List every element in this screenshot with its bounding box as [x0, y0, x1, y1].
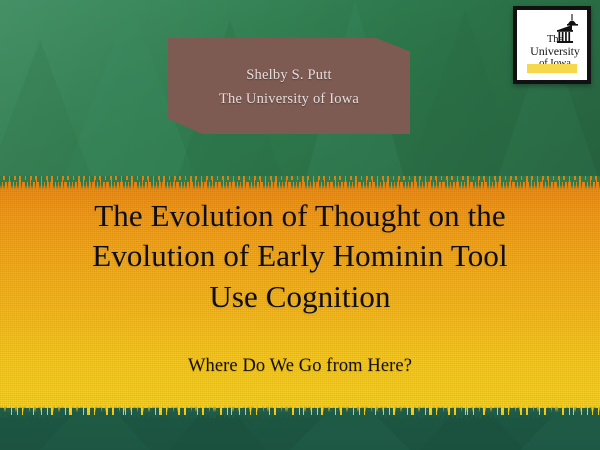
- author-box: Shelby S. Putt The University of Iowa: [168, 38, 410, 134]
- torn-edge-top: [0, 176, 600, 182]
- title-slide: Shelby S. Putt The University of Iowa Th…: [0, 0, 600, 450]
- slide-title: The Evolution of Thought on the Evolutio…: [20, 196, 580, 317]
- torn-edge-bottom: [0, 408, 600, 415]
- logo-line-university: University: [521, 45, 589, 58]
- title-line: The Evolution of Thought on the: [20, 196, 580, 236]
- author-affiliation: The University of Iowa: [168, 88, 410, 112]
- university-of-iowa-logo: The University of Iowa: [513, 6, 591, 84]
- title-line: Use Cognition: [20, 277, 580, 317]
- author-name: Shelby S. Putt: [168, 64, 410, 88]
- author-text-group: Shelby S. Putt The University of Iowa: [168, 64, 410, 112]
- title-line: Evolution of Early Hominin Tool: [20, 236, 580, 276]
- logo-gold-bar: [527, 64, 577, 73]
- slide-subtitle: Where Do We Go from Here?: [20, 356, 580, 377]
